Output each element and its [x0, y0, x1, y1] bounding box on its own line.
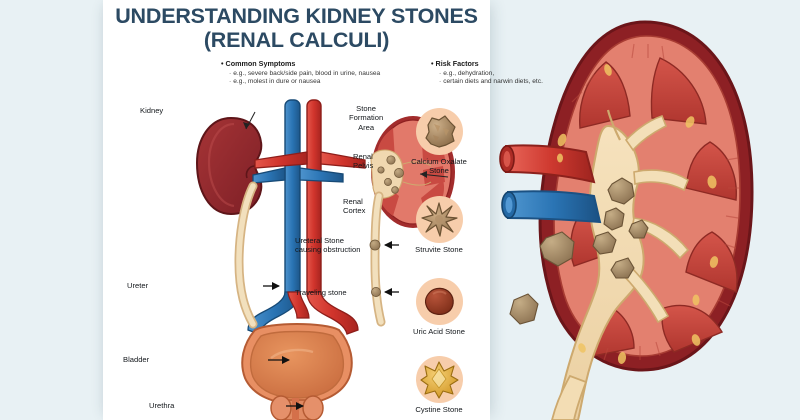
stone-type-cystine: Cystine Stone: [393, 356, 485, 414]
stone-type-struvite: Struvite Stone: [393, 196, 485, 254]
calcium-oxalate-icon: [416, 108, 463, 155]
kidney-cross-section-large: [490, 0, 800, 420]
poster-panel: UNDERSTANDING KIDNEY STONES (RENAL CALCU…: [103, 0, 490, 420]
uric-acid-icon: [416, 278, 463, 325]
label-renal-pelvis: Renal Pelvis: [353, 152, 373, 171]
cystine-icon: [416, 356, 463, 403]
stone-type-uric-acid: Uric Acid Stone: [393, 278, 485, 336]
label-bladder: Bladder: [123, 355, 149, 364]
cystine-label: Cystine Stone: [393, 405, 485, 414]
label-renal-cortex: Renal Cortex: [343, 197, 365, 216]
label-urethra: Urethra: [149, 401, 174, 410]
ureter-large: [552, 376, 586, 420]
stone-type-calcium-oxalate: Calcium Oxalate Stone: [393, 108, 485, 175]
label-traveling-stone: Traveling stone: [295, 288, 347, 297]
infographic-canvas: UNDERSTANDING KIDNEY STONES (RENAL CALCU…: [0, 0, 800, 420]
label-kidney: Kidney: [140, 106, 163, 115]
label-ureter: Ureter: [127, 281, 148, 290]
label-ureteral-stone: Ureteral Stone causing obstruction: [295, 236, 360, 255]
great-vessels: [248, 100, 365, 334]
uric-acid-label: Uric Acid Stone: [393, 327, 485, 336]
struvite-label: Struvite Stone: [393, 245, 485, 254]
calcium-oxalate-label: Calcium Oxalate Stone: [393, 157, 485, 175]
struvite-icon: [416, 196, 463, 243]
label-stone-formation-area: Stone Formation Area: [349, 104, 383, 132]
renal-vein: [502, 191, 600, 222]
